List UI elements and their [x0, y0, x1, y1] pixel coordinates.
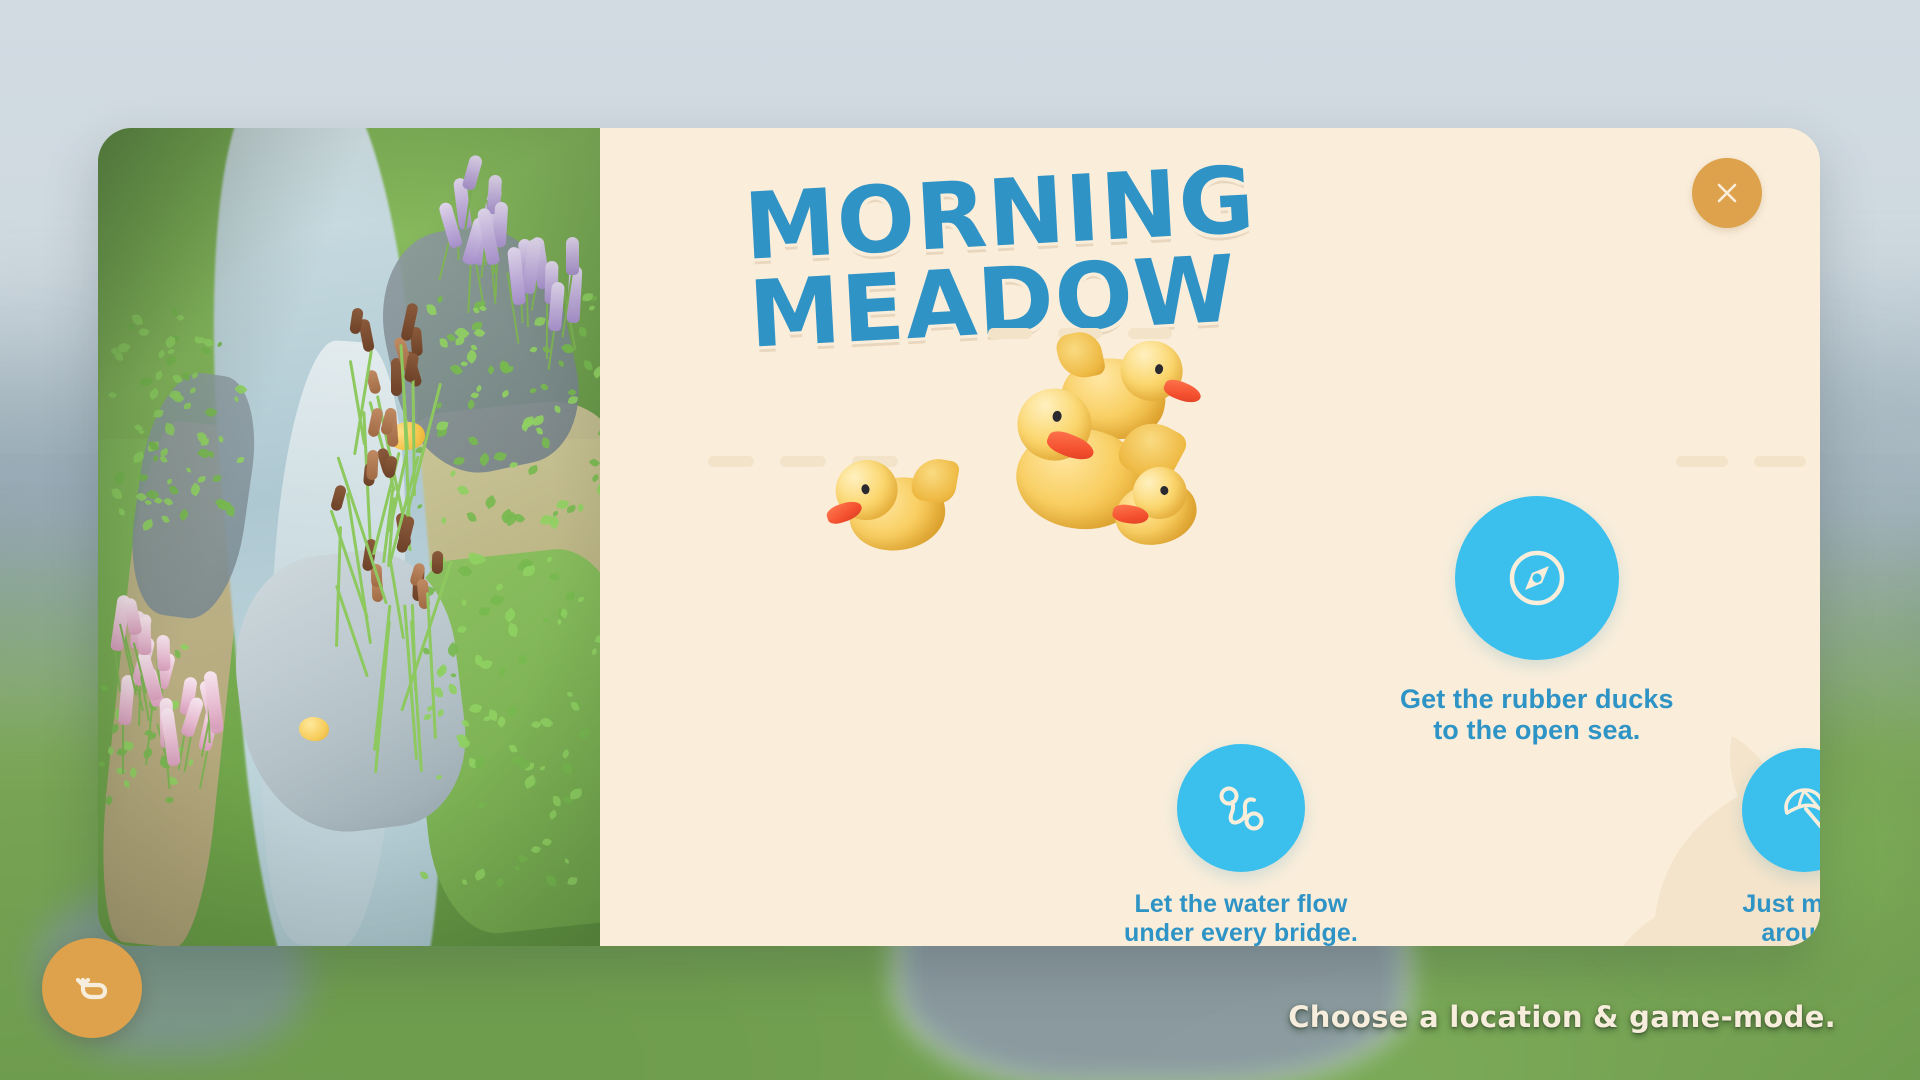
beach-umbrella-icon: [1777, 783, 1820, 837]
game-mode-rubber-ducks-circle: [1455, 496, 1619, 660]
card-content: MORNING MEADOW: [600, 128, 1820, 946]
game-mode-water-flow-circle: [1177, 744, 1305, 872]
game-mode-options: Let the water flow under every bridge. G…: [600, 128, 1820, 946]
game-mode-water-flow[interactable]: Let the water flow under every bridge.: [1124, 744, 1358, 946]
back-button[interactable]: [42, 938, 142, 1038]
footer-prompt: Choose a location & game-mode.: [1288, 1000, 1836, 1034]
winding-route-icon: [1213, 780, 1269, 836]
compass-icon: [1504, 545, 1570, 611]
game-screen: MORNING MEADOW: [0, 0, 1920, 1080]
undo-arrow-icon: [71, 967, 113, 1009]
game-mode-sandbox-circle: [1742, 748, 1820, 872]
game-mode-sandbox-label: Just mess around with water and sand.: [1742, 890, 1820, 946]
preview-vignette: [98, 128, 600, 946]
game-mode-rubber-ducks[interactable]: Get the rubber ducks to the open sea.: [1400, 496, 1674, 747]
location-preview-image: [98, 128, 600, 946]
game-mode-rubber-ducks-label: Get the rubber ducks to the open sea.: [1400, 684, 1674, 747]
game-mode-water-flow-label: Let the water flow under every bridge.: [1124, 890, 1358, 946]
game-mode-sandbox[interactable]: Just mess around with water and sand.: [1742, 748, 1820, 946]
location-card: MORNING MEADOW: [98, 128, 1820, 946]
